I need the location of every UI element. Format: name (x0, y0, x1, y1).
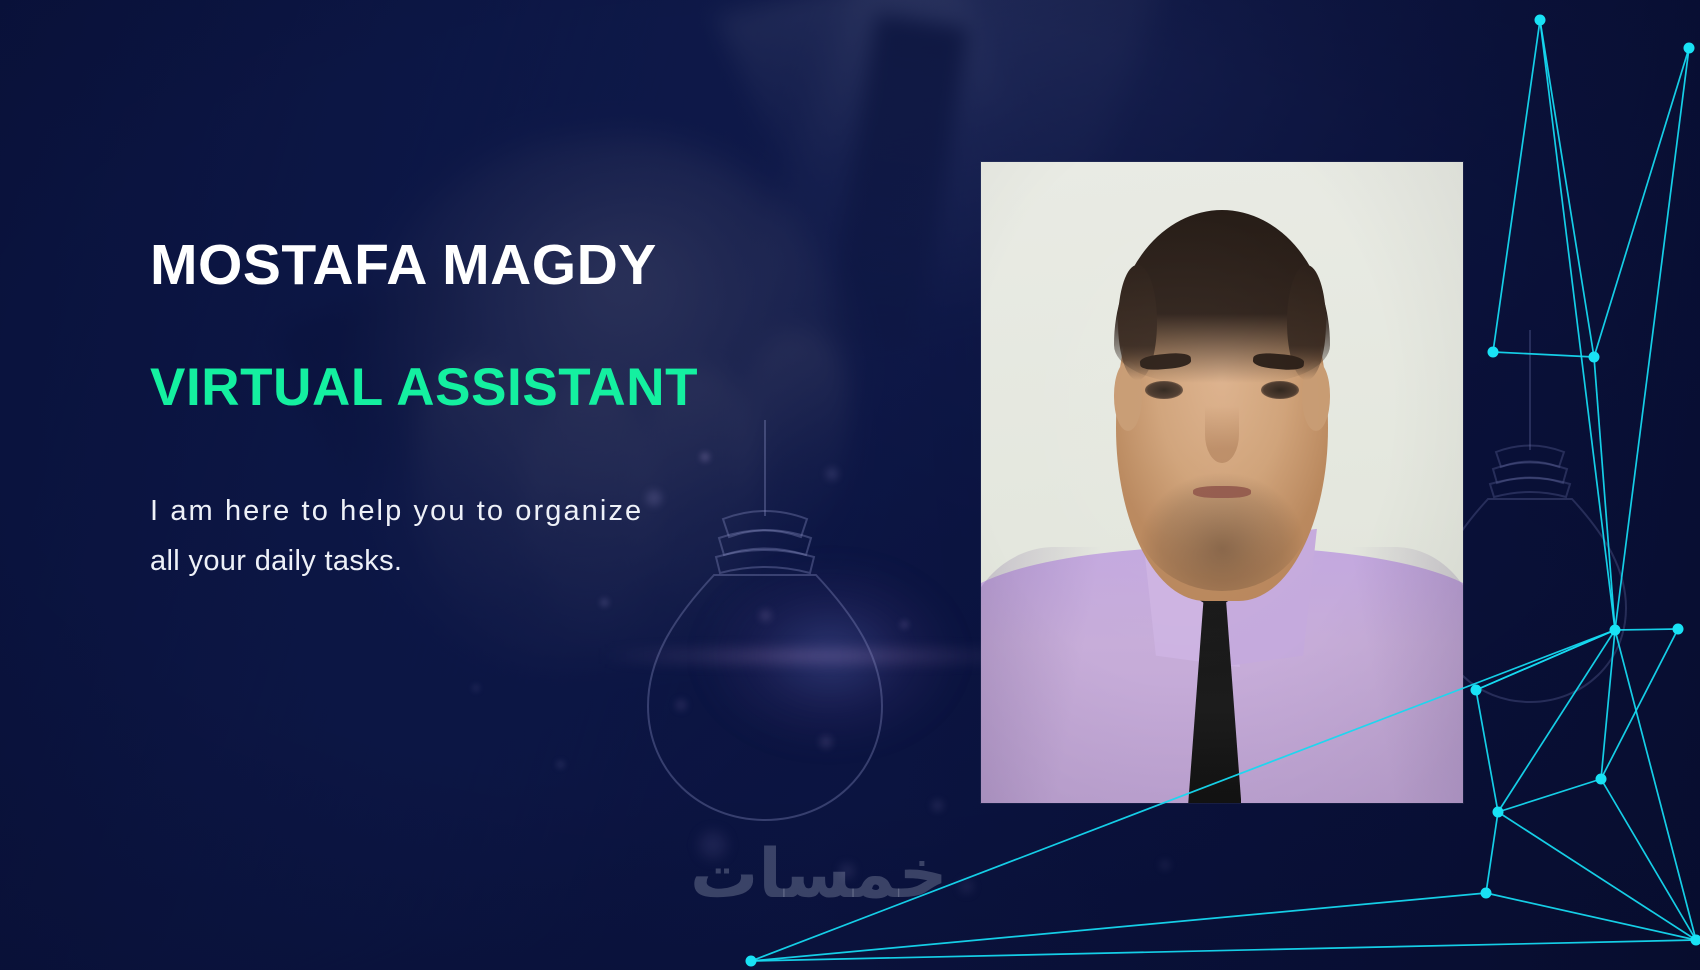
tagline-line-2: all your daily tasks. (150, 537, 870, 587)
portrait-photo (981, 162, 1463, 803)
job-title: VIRTUAL ASSISTANT (150, 360, 870, 416)
hero-text-block: MOSTAFA MAGDY VIRTUAL ASSISTANT I am her… (150, 236, 870, 587)
banner-root: MOSTAFA MAGDY VIRTUAL ASSISTANT I am her… (0, 0, 1700, 970)
tagline-line-1: I am here to help you to organize (150, 487, 870, 537)
tagline: I am here to help you to organize all yo… (150, 487, 870, 587)
person-name: MOSTAFA MAGDY (150, 236, 870, 296)
portrait-lighting-overlay (981, 162, 1463, 803)
